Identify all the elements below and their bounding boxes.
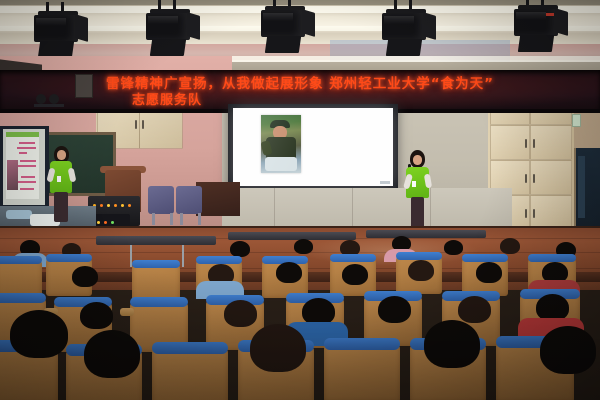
stage-chair bbox=[176, 186, 202, 214]
auditorium-photo: 雷锋精神广宣扬，从我做起展形象 郑州轻工业大学“食为天” 志愿服务队 bbox=[0, 0, 600, 400]
wall-fixture bbox=[572, 114, 581, 127]
stage-chair bbox=[148, 186, 174, 214]
wall-speaker-icon bbox=[75, 74, 93, 98]
door-glass-panel bbox=[578, 156, 585, 218]
left-monitor bbox=[0, 126, 49, 208]
wall-mounted-lights bbox=[34, 94, 64, 106]
slide-photo bbox=[261, 115, 301, 173]
left-monitor-slide bbox=[6, 132, 39, 199]
rear-desk bbox=[228, 232, 356, 240]
rear-desk bbox=[366, 230, 486, 238]
stage-cabinet bbox=[196, 182, 240, 216]
rear-desk bbox=[96, 236, 216, 245]
projection-screen bbox=[233, 108, 393, 186]
